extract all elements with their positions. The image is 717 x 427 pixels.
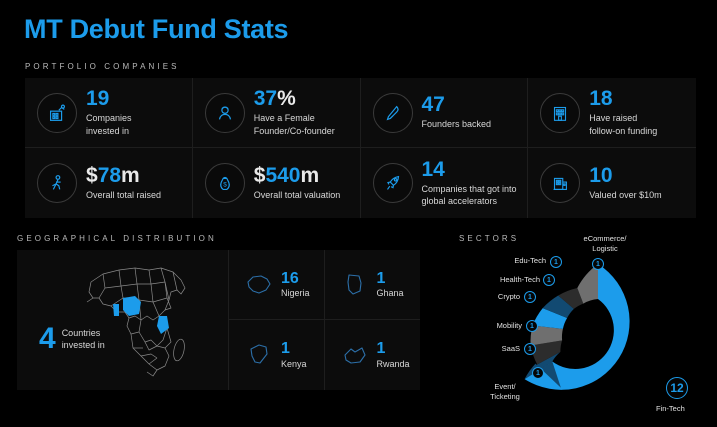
sector-badge-event: 1 xyxy=(532,367,544,379)
infographic-page: MT Debut Fund Stats PORTFOLIO COMPANIES … xyxy=(0,0,717,427)
geographical-panel: 4 Countries invested in 16 Nigeria xyxy=(17,250,420,390)
companies-icon xyxy=(37,93,77,133)
stat-card-female-founder: 37% Have a Female Founder/Co-founder xyxy=(193,78,361,148)
country-value: 1 xyxy=(377,271,404,288)
africa-map xyxy=(73,254,223,386)
stat-value: $78m xyxy=(86,165,161,187)
stat-label: Companies invested in xyxy=(86,112,132,136)
country-cell-rwanda: 1 Rwanda xyxy=(325,320,421,390)
ghana-highlight xyxy=(113,304,119,316)
africa-map-box: 4 Countries invested in xyxy=(17,250,229,390)
sectors-chart: eCommerce/ Logistic 1 Edu-Tech 1 Health-… xyxy=(440,232,717,427)
countries-count: 4 xyxy=(39,324,56,354)
stat-value: 19 xyxy=(86,88,132,110)
stat-card-follow-on-funding: 18 Have raised follow-on funding xyxy=(528,78,696,148)
country-cell-ghana: 1 Ghana xyxy=(325,250,421,320)
sector-label-mobility: Mobility xyxy=(466,321,522,331)
stat-body: 37% Have a Female Founder/Co-founder xyxy=(254,88,335,136)
country-name: Rwanda xyxy=(377,359,410,369)
stat-card-founders-backed: 47 Founders backed xyxy=(361,78,529,148)
stat-label: Have a Female Founder/Co-founder xyxy=(254,112,335,136)
nigeria-outline-icon xyxy=(243,273,275,297)
ghana-outline-icon xyxy=(339,272,371,298)
kenya-outline-icon xyxy=(243,342,275,368)
stat-card-total-raised: $78m Overall total raised xyxy=(25,148,193,218)
sector-label-event: Event/ Ticketing xyxy=(474,382,536,402)
country-value: 16 xyxy=(281,271,310,288)
portfolio-section-header: PORTFOLIO COMPANIES xyxy=(25,62,180,71)
country-name: Ghana xyxy=(377,288,404,298)
country-value: 1 xyxy=(377,341,410,358)
stat-label: Founders backed xyxy=(422,118,492,130)
stat-value: $540m xyxy=(254,165,341,187)
rwanda-outline-icon xyxy=(339,343,371,367)
sector-label-ecommerce: eCommerce/ Logistic xyxy=(568,234,642,254)
countries-label: Countries invested in xyxy=(62,327,105,351)
stat-body: 10 Valued over $10m xyxy=(589,165,661,201)
country-cell-nigeria: 16 Nigeria xyxy=(229,250,325,320)
building-icon xyxy=(540,93,580,133)
geographical-section-header: GEOGRAPHICAL DISTRIBUTION xyxy=(17,234,217,243)
stat-value: 37% xyxy=(254,88,335,110)
country-cell-kenya: 1 Kenya xyxy=(229,320,325,390)
stat-value: 10 xyxy=(589,165,661,187)
stat-label: Companies that got into global accelerat… xyxy=(422,183,517,207)
country-text: 1 Kenya xyxy=(281,341,307,369)
sector-badge-mobility: 1 xyxy=(526,320,538,332)
page-title: MT Debut Fund Stats xyxy=(24,14,288,45)
stat-card-global-accelerators: 14 Companies that got into global accele… xyxy=(361,148,529,218)
country-name: Kenya xyxy=(281,359,307,369)
portfolio-stats-grid: 19 Companies invested in 37% Have a Fema… xyxy=(25,78,696,218)
stat-value: 18 xyxy=(589,88,657,110)
sector-label-edutech: Edu-Tech xyxy=(490,256,546,266)
sector-badge-saas: 1 xyxy=(524,343,536,355)
stat-label: Overall total raised xyxy=(86,189,161,201)
stat-body: $78m Overall total raised xyxy=(86,165,161,201)
stat-card-total-valuation: $ $540m Overall total valuation xyxy=(193,148,361,218)
sector-label-crypto: Crypto xyxy=(468,292,520,302)
sector-label-saas: SaaS xyxy=(472,344,520,354)
sector-badge-ecommerce: 1 xyxy=(592,258,604,270)
stat-body: 14 Companies that got into global accele… xyxy=(422,159,517,207)
stat-card-companies-invested: 19 Companies invested in xyxy=(25,78,193,148)
stat-value: 14 xyxy=(422,159,517,181)
country-text: 16 Nigeria xyxy=(281,271,310,299)
sector-badge-fintech: 12 xyxy=(666,377,688,399)
stat-body: 18 Have raised follow-on funding xyxy=(589,88,657,136)
stat-label: Have raised follow-on funding xyxy=(589,112,657,136)
country-text: 1 Ghana xyxy=(377,271,404,299)
stat-body: 19 Companies invested in xyxy=(86,88,132,136)
stat-body: $540m Overall total valuation xyxy=(254,165,341,201)
sector-badge-healthtech: 1 xyxy=(543,274,555,286)
countries-invested-stat: 4 Countries invested in xyxy=(39,324,105,354)
rocket-icon xyxy=(373,163,413,203)
stat-card-valued-over-10m: 10 Valued over $10m xyxy=(528,148,696,218)
money-bag-icon: $ xyxy=(205,163,245,203)
bank-icon xyxy=(540,163,580,203)
founders-icon xyxy=(373,93,413,133)
country-grid: 16 Nigeria 1 Ghana xyxy=(229,250,420,390)
sector-label-healthtech: Health-Tech xyxy=(474,275,540,285)
stat-label: Valued over $10m xyxy=(589,189,661,201)
country-name: Nigeria xyxy=(281,288,310,298)
kenya-highlight xyxy=(157,316,169,334)
sector-badge-edutech: 1 xyxy=(550,256,562,268)
country-value: 1 xyxy=(281,341,307,358)
stat-value: 47 xyxy=(422,94,492,116)
money-run-icon xyxy=(37,163,77,203)
female-founder-icon xyxy=(205,93,245,133)
sector-label-fintech: Fin-Tech xyxy=(656,404,685,413)
svg-text:$: $ xyxy=(223,182,227,189)
stat-label: Overall total valuation xyxy=(254,189,341,201)
sector-badge-crypto: 1 xyxy=(524,291,536,303)
country-text: 1 Rwanda xyxy=(377,341,410,369)
stat-body: 47 Founders backed xyxy=(422,94,492,130)
